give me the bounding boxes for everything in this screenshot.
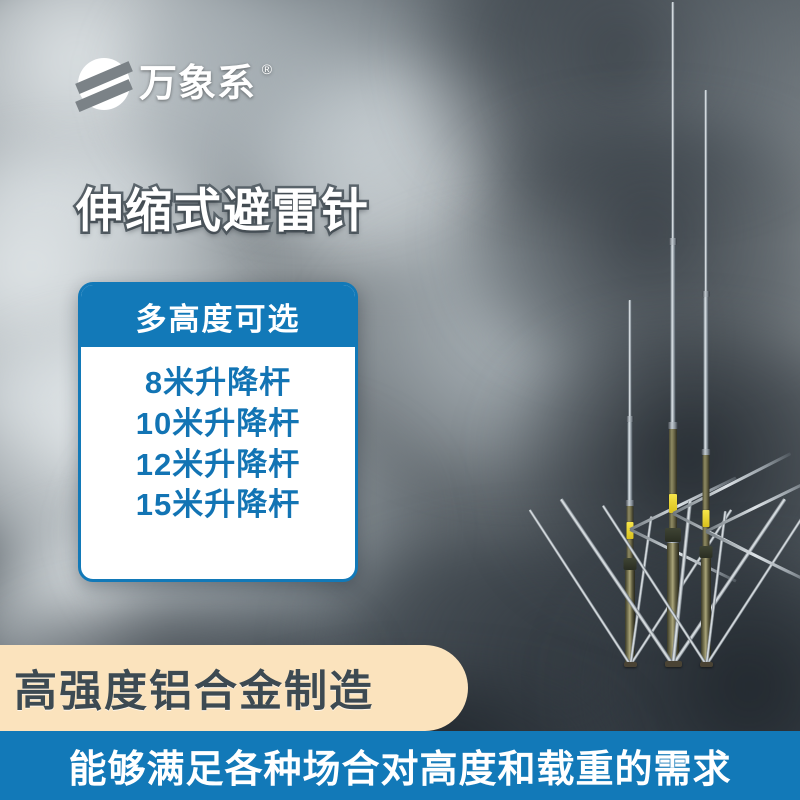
card-header-label: 多高度可选 bbox=[136, 294, 301, 339]
brand-sphere-icon bbox=[78, 58, 130, 110]
list-item: 10米升降杆 bbox=[136, 405, 300, 443]
mast-section-top bbox=[705, 90, 708, 295]
mast-section-top bbox=[629, 300, 632, 420]
right-mast bbox=[676, 90, 736, 665]
yellow-warning-sticker bbox=[703, 510, 710, 527]
brand-name-text: 万象系 bbox=[139, 63, 256, 105]
mast-section-upper bbox=[671, 245, 676, 425]
list-item: 8米升降杆 bbox=[145, 364, 291, 402]
mast-hub bbox=[624, 558, 637, 570]
list-item: 12米升降杆 bbox=[136, 446, 300, 484]
material-banner: 高强度铝合金制造 bbox=[0, 645, 468, 731]
brand-logo: 万象系 ® bbox=[78, 58, 256, 110]
tripod-foot bbox=[700, 662, 713, 667]
mast-hub bbox=[700, 546, 713, 558]
card-header: 多高度可选 bbox=[81, 285, 355, 347]
tripod-foot bbox=[624, 662, 637, 667]
material-banner-label: 高强度铝合金制造 bbox=[14, 657, 374, 719]
brand-name: 万象系 ® bbox=[139, 65, 256, 103]
benefit-banner: 能够满足各种场合对高度和载重的需求 bbox=[0, 731, 800, 800]
card-body: 8米升降杆 10米升降杆 12米升降杆 15米升降杆 bbox=[81, 347, 355, 524]
mast-section-upper bbox=[628, 422, 633, 502]
benefit-banner-label: 能够满足各种场合对高度和载重的需求 bbox=[68, 738, 731, 793]
list-item: 15米升降杆 bbox=[136, 486, 300, 524]
mast-section-upper bbox=[704, 297, 709, 452]
product-poster: 万象系 ® 伸缩式避雷针 多高度可选 8米升降杆 10米升降杆 12米升降杆 1… bbox=[0, 0, 800, 800]
mast-section-top bbox=[672, 2, 675, 242]
height-options-card: 多高度可选 8米升降杆 10米升降杆 12米升降杆 15米升降杆 bbox=[78, 282, 358, 582]
page-title: 伸缩式避雷针 bbox=[76, 172, 370, 241]
mast-section-mid bbox=[703, 455, 710, 555]
registered-trademark-icon: ® bbox=[262, 62, 273, 76]
